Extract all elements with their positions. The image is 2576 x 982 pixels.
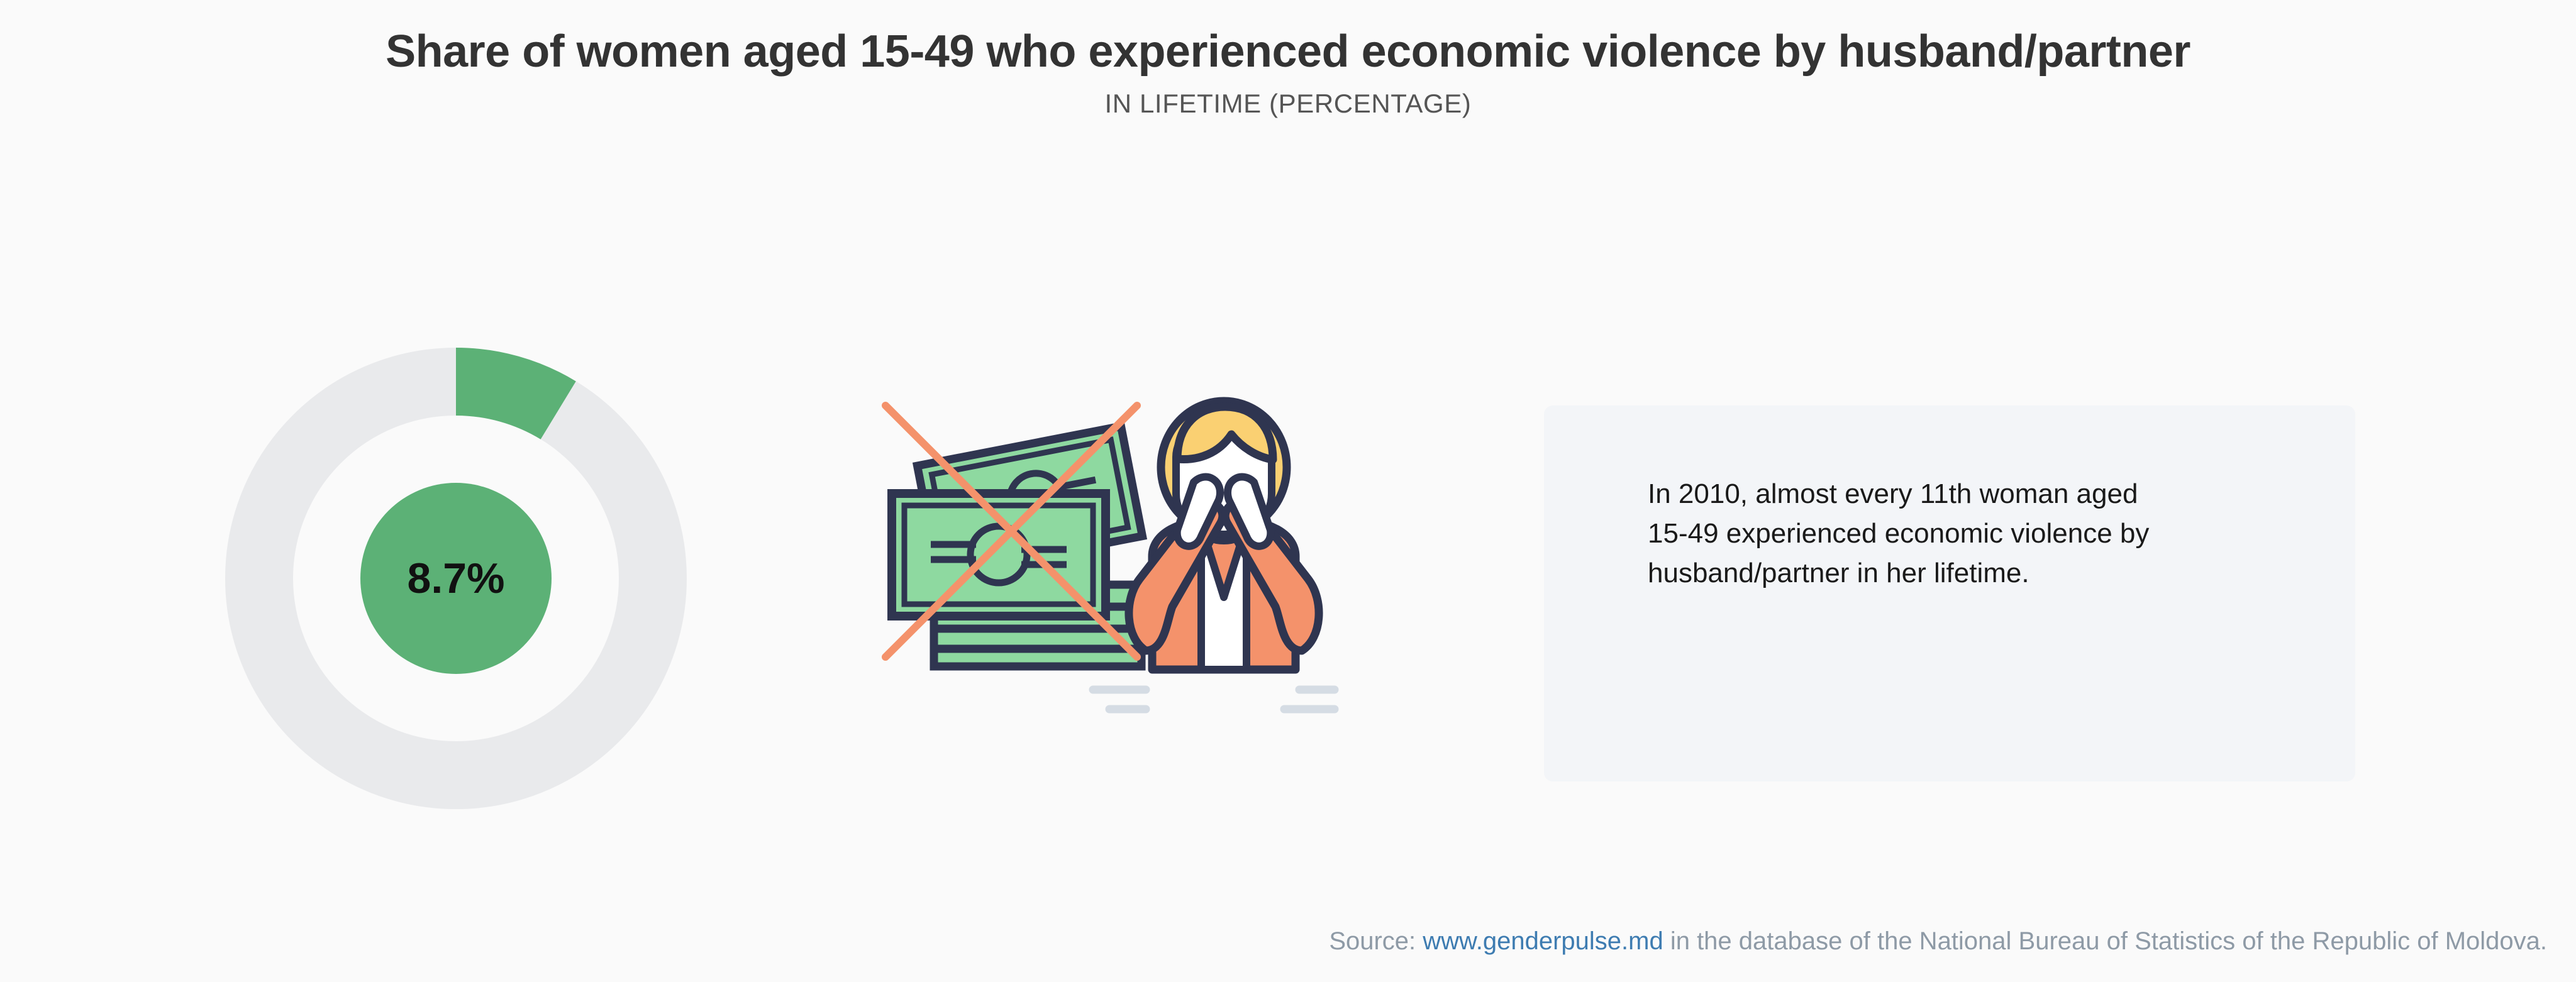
donut-hub-circle [360,483,552,674]
page-subtitle: IN LIFETIME (PERCENTAGE) [0,89,2576,119]
main-content: 8.7% [0,226,2576,855]
donut-chart: 8.7% [208,330,704,827]
donut-chart-svg [208,330,704,827]
illustration-svg [855,377,1377,792]
callout-box: In 2010, almost every 11th woman aged 15… [1544,405,2355,781]
banknotes-icon [892,426,1142,666]
header: Share of women aged 15-49 who experience… [0,25,2576,119]
source-note: Source: www.genderpulse.md in the databa… [1329,927,2547,956]
source-suffix: in the database of the National Bureau o… [1663,927,2547,955]
callout-text: In 2010, almost every 11th woman aged 15… [1648,475,2149,593]
illustration [855,377,1377,792]
source-link[interactable]: www.genderpulse.md [1423,927,1663,955]
page-title: Share of women aged 15-49 who experience… [225,25,2351,79]
woman-covering-face-icon [1129,401,1319,670]
ground-lines [1093,690,1335,709]
source-prefix: Source: [1329,927,1423,955]
